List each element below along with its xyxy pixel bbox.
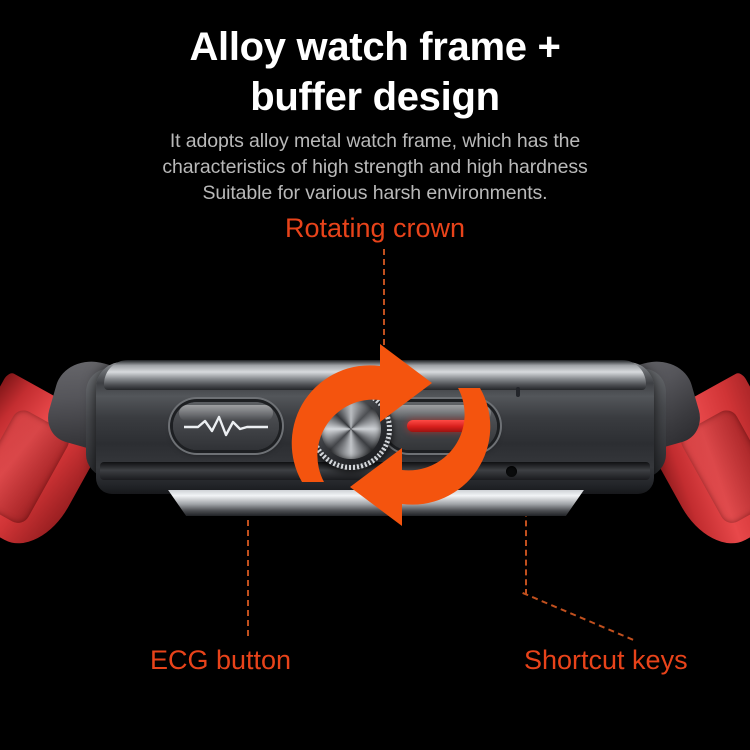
ecg-button[interactable]	[173, 402, 279, 450]
callout-label-rotating-crown: Rotating crown	[0, 213, 750, 244]
microphone-hole-icon	[506, 466, 517, 477]
description-line-3: Suitable for various harsh environments.	[0, 180, 750, 206]
description-line-1: It adopts alloy metal watch frame, which…	[0, 128, 750, 154]
headline-line-1: Alloy watch frame +	[0, 22, 750, 72]
product-feature-graphic: Alloy watch frame + buffer design It ado…	[0, 0, 750, 750]
description-text: It adopts alloy metal watch frame, which…	[0, 128, 750, 206]
circular-rotation-arrows-icon	[276, 336, 506, 536]
callout-label-ecg-button: ECG button	[150, 645, 291, 676]
headline-line-2: buffer design	[0, 72, 750, 122]
case-notch-right	[516, 387, 520, 397]
callout-label-shortcut-keys: Shortcut keys	[524, 645, 688, 676]
smartwatch-side-view	[0, 340, 750, 570]
page-title: Alloy watch frame + buffer design	[0, 22, 750, 122]
leader-line-crown	[383, 249, 385, 345]
description-line-2: characteristics of high strength and hig…	[0, 154, 750, 180]
leader-line-shortcut-diagonal	[522, 592, 633, 641]
heartbeat-waveform-icon	[184, 413, 268, 439]
